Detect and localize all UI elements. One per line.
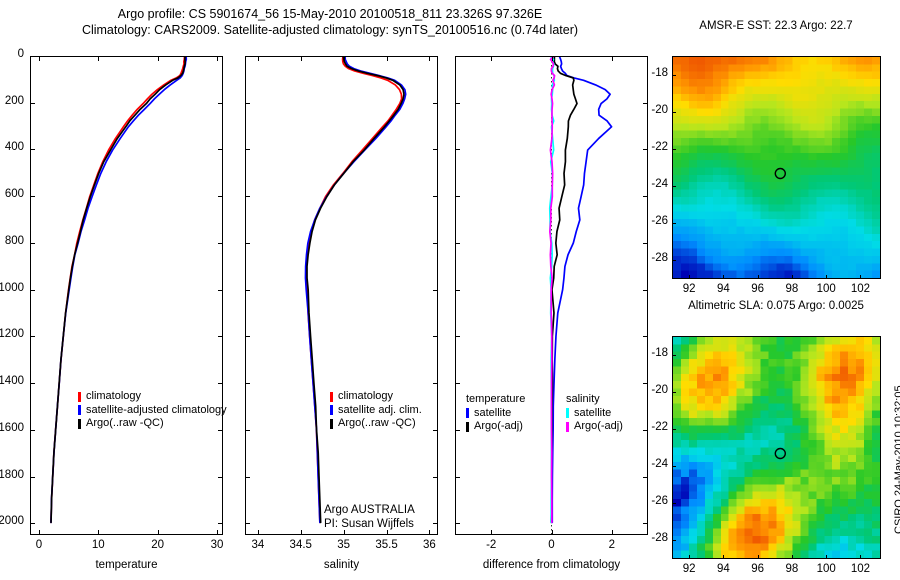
salinity-legend: climatologysatellite adj. clim.Argo(..ra…: [330, 390, 422, 431]
map-y-tick: [672, 503, 676, 504]
legend-label: climatology: [338, 390, 393, 404]
y-tick-right: [218, 336, 223, 337]
legend-item: satellite: [466, 407, 525, 421]
map-x-tick: [826, 275, 827, 279]
y-tick: [30, 103, 35, 104]
x-tick-label: 10: [78, 539, 118, 551]
legend-header: temperature: [466, 393, 525, 407]
y-tick: [245, 336, 250, 337]
x-tick: [258, 530, 259, 535]
x-tick-label: 0: [19, 539, 59, 551]
x-tick: [552, 530, 553, 535]
y-tick-right: [218, 523, 223, 524]
legend-item: satellite-adjusted climatology: [78, 404, 227, 418]
title-line-1: Argo profile: CS 5901674_56 15-May-2010 …: [0, 6, 660, 22]
sst-map-image: [673, 57, 880, 278]
y-tick: [30, 149, 35, 150]
map-y-tick-label: -26: [636, 215, 668, 227]
map-y-tick-label: -20: [636, 104, 668, 116]
y-tick-right: [643, 56, 648, 57]
y-tick: [455, 383, 460, 384]
sla-map-panel: [672, 336, 881, 559]
map-y-tick-label: -20: [636, 384, 668, 396]
y-tick-right: [433, 149, 438, 150]
map-y-tick: [672, 149, 676, 150]
map-y-tick-label: -26: [636, 495, 668, 507]
legend-item: Argo(..raw -QC): [330, 417, 422, 431]
y-tick: [30, 523, 35, 524]
salinity-profile-plot: [246, 57, 437, 534]
legend-item: satellite adj. clim.: [330, 404, 422, 418]
temperature-xaxis-label: temperature: [30, 559, 223, 571]
x-tick-top: [612, 56, 613, 61]
legend-label: satellite: [574, 407, 611, 421]
y-tick-right: [643, 477, 648, 478]
difference-legend-temperature: temperaturesatelliteArgo(-adj): [466, 393, 525, 434]
x-tick: [217, 530, 218, 535]
map-x-tick: [792, 555, 793, 559]
y-tick-right: [643, 336, 648, 337]
credit-line-2: PI: Susan Wijffels: [324, 517, 415, 531]
legend-item: climatology: [78, 390, 227, 404]
legend-color-swatch: [566, 422, 569, 432]
csiro-timestamp: CSIRO 24-May-2010 10:32:05: [893, 385, 900, 534]
x-tick: [98, 530, 99, 535]
y-tick: [30, 196, 35, 197]
y-tick-label: 1200: [0, 328, 24, 340]
y-tick-right: [433, 56, 438, 57]
sst-map-title: AMSR-E SST: 22.3 Argo: 22.7: [665, 20, 887, 32]
y-tick-right: [433, 243, 438, 244]
x-tick-top: [344, 56, 345, 61]
map-x-tick: [689, 555, 690, 559]
y-tick-label: 0: [0, 48, 24, 60]
legend-label: Argo(-adj): [474, 420, 523, 434]
x-tick-label: 34: [238, 539, 278, 551]
map-x-tick: [723, 555, 724, 559]
x-tick: [158, 530, 159, 535]
map-y-tick: [672, 75, 676, 76]
y-tick: [245, 430, 250, 431]
map-x-tick: [826, 555, 827, 559]
salinity-profile-panel: [245, 56, 438, 535]
x-tick-label: 36: [409, 539, 449, 551]
map-y-tick: [672, 186, 676, 187]
x-tick-top: [387, 56, 388, 61]
y-tick: [455, 243, 460, 244]
y-tick-right: [433, 103, 438, 104]
x-tick-top: [429, 56, 430, 61]
argo-credit: Argo AUSTRALIA PI: Susan Wijffels: [324, 503, 415, 531]
y-tick: [455, 477, 460, 478]
y-tick: [455, 290, 460, 291]
legend-label: satellite-adjusted climatology: [86, 404, 227, 418]
map-y-tick-label: -22: [636, 421, 668, 433]
y-tick-label: 1800: [0, 469, 24, 481]
sla-map-image: [673, 337, 880, 558]
credit-line-1: Argo AUSTRALIA: [324, 503, 415, 517]
difference-xaxis-label: difference from climatology: [443, 559, 660, 571]
x-tick: [301, 530, 302, 535]
legend-label: climatology: [86, 390, 141, 404]
y-tick: [245, 149, 250, 150]
y-tick-label: 1400: [0, 375, 24, 387]
x-tick-top: [552, 56, 553, 61]
y-tick-right: [433, 290, 438, 291]
y-tick-right: [433, 196, 438, 197]
y-tick: [245, 103, 250, 104]
y-tick-label: 400: [0, 141, 24, 153]
y-tick-right: [643, 196, 648, 197]
y-tick-label: 1000: [0, 282, 24, 294]
legend-item: Argo(-adj): [466, 420, 525, 434]
x-tick: [612, 530, 613, 535]
x-tick-top: [98, 56, 99, 61]
temperature-legend: climatologysatellite-adjusted climatolog…: [78, 390, 227, 431]
map-y-tick-label: -28: [636, 532, 668, 544]
difference-profile-plot: [456, 57, 647, 534]
y-tick-right: [218, 290, 223, 291]
legend-label: Argo(-adj): [574, 420, 623, 434]
y-tick: [455, 336, 460, 337]
x-tick-label: 34.5: [281, 539, 321, 551]
y-tick-right: [218, 103, 223, 104]
figure-title: Argo profile: CS 5901674_56 15-May-2010 …: [0, 6, 660, 38]
y-tick-right: [218, 243, 223, 244]
map-y-tick: [672, 429, 676, 430]
y-tick: [455, 103, 460, 104]
x-tick-top: [158, 56, 159, 61]
map-y-tick: [672, 392, 676, 393]
y-tick: [245, 56, 250, 57]
map-x-tick: [860, 555, 861, 559]
y-tick: [30, 430, 35, 431]
salinity-xaxis-label: salinity: [245, 559, 438, 571]
map-x-tick: [723, 275, 724, 279]
temperature-profile-plot: [31, 57, 222, 534]
x-tick-label: 2: [592, 539, 632, 551]
x-tick: [429, 530, 430, 535]
map-y-tick: [672, 112, 676, 113]
y-tick-right: [218, 383, 223, 384]
legend-color-swatch: [78, 392, 81, 402]
y-tick-right: [433, 477, 438, 478]
map-x-tick-label: 102: [840, 283, 880, 295]
legend-label: Argo(..raw -QC): [338, 417, 416, 431]
y-tick: [245, 243, 250, 244]
map-y-tick: [672, 540, 676, 541]
x-tick: [39, 530, 40, 535]
legend-label: Argo(..raw -QC): [86, 417, 164, 431]
map-x-tick: [758, 555, 759, 559]
map-y-tick: [672, 260, 676, 261]
y-tick: [30, 383, 35, 384]
x-tick-label: -2: [471, 539, 511, 551]
difference-legend-salinity: salinitysatelliteArgo(-adj): [566, 393, 623, 434]
y-tick: [455, 430, 460, 431]
y-tick: [245, 196, 250, 197]
y-tick-label: 2000: [0, 515, 24, 527]
y-tick: [30, 477, 35, 478]
x-tick-label: 35: [324, 539, 364, 551]
legend-header: salinity: [566, 393, 623, 407]
map-y-tick: [672, 223, 676, 224]
map-x-tick: [689, 275, 690, 279]
difference-profile-panel: [455, 56, 648, 535]
x-tick-label: 20: [138, 539, 178, 551]
map-x-tick: [758, 275, 759, 279]
y-tick-label: 1600: [0, 422, 24, 434]
legend-color-swatch: [466, 422, 469, 432]
legend-color-swatch: [330, 419, 333, 429]
y-tick-right: [218, 56, 223, 57]
x-tick-label: 30: [197, 539, 237, 551]
y-tick-right: [433, 430, 438, 431]
map-y-tick-label: -28: [636, 252, 668, 264]
y-tick-right: [433, 383, 438, 384]
legend-item: Argo(..raw -QC): [78, 417, 227, 431]
x-tick-top: [301, 56, 302, 61]
legend-item: satellite: [566, 407, 623, 421]
x-tick: [491, 530, 492, 535]
map-x-tick: [792, 275, 793, 279]
x-tick-top: [258, 56, 259, 61]
map-x-tick: [860, 275, 861, 279]
x-tick-top: [491, 56, 492, 61]
legend-color-swatch: [566, 408, 569, 418]
legend-item: Argo(-adj): [566, 420, 623, 434]
y-tick-right: [643, 243, 648, 244]
y-tick: [455, 56, 460, 57]
y-tick-right: [433, 523, 438, 524]
y-tick-label: 200: [0, 95, 24, 107]
x-tick-label: 35.5: [367, 539, 407, 551]
map-y-tick: [672, 466, 676, 467]
y-tick: [30, 56, 35, 57]
y-tick-label: 800: [0, 235, 24, 247]
y-tick: [245, 477, 250, 478]
temperature-profile-panel: [30, 56, 223, 535]
legend-label: satellite adj. clim.: [338, 404, 422, 418]
title-line-2: Climatology: CARS2009. Satellite-adjuste…: [0, 22, 660, 38]
y-tick: [30, 336, 35, 337]
y-tick-right: [218, 149, 223, 150]
map-y-tick-label: -24: [636, 458, 668, 470]
map-y-tick: [672, 355, 676, 356]
x-tick-label: 0: [532, 539, 572, 551]
y-tick: [245, 290, 250, 291]
y-tick-right: [218, 477, 223, 478]
map-x-tick-label: 102: [840, 563, 880, 575]
legend-color-swatch: [330, 405, 333, 415]
y-tick: [455, 149, 460, 150]
y-tick: [30, 290, 35, 291]
sst-map-panel: [672, 56, 881, 279]
legend-color-swatch: [330, 392, 333, 402]
legend-color-swatch: [466, 408, 469, 418]
sla-map-title: Altimetric SLA: 0.075 Argo: 0.0025: [665, 300, 887, 312]
x-tick-top: [39, 56, 40, 61]
y-tick-right: [643, 523, 648, 524]
y-tick: [245, 523, 250, 524]
y-tick: [245, 383, 250, 384]
legend-label: satellite: [474, 407, 511, 421]
map-y-tick-label: -22: [636, 141, 668, 153]
y-tick-right: [433, 336, 438, 337]
y-tick: [455, 196, 460, 197]
legend-color-swatch: [78, 405, 81, 415]
legend-color-swatch: [78, 419, 81, 429]
y-tick-right: [643, 290, 648, 291]
y-tick-label: 600: [0, 188, 24, 200]
map-y-tick-label: -24: [636, 178, 668, 190]
legend-item: climatology: [330, 390, 422, 404]
y-tick: [455, 523, 460, 524]
y-tick-right: [218, 196, 223, 197]
y-tick: [30, 243, 35, 244]
map-y-tick-label: -18: [636, 67, 668, 79]
map-y-tick-label: -18: [636, 347, 668, 359]
